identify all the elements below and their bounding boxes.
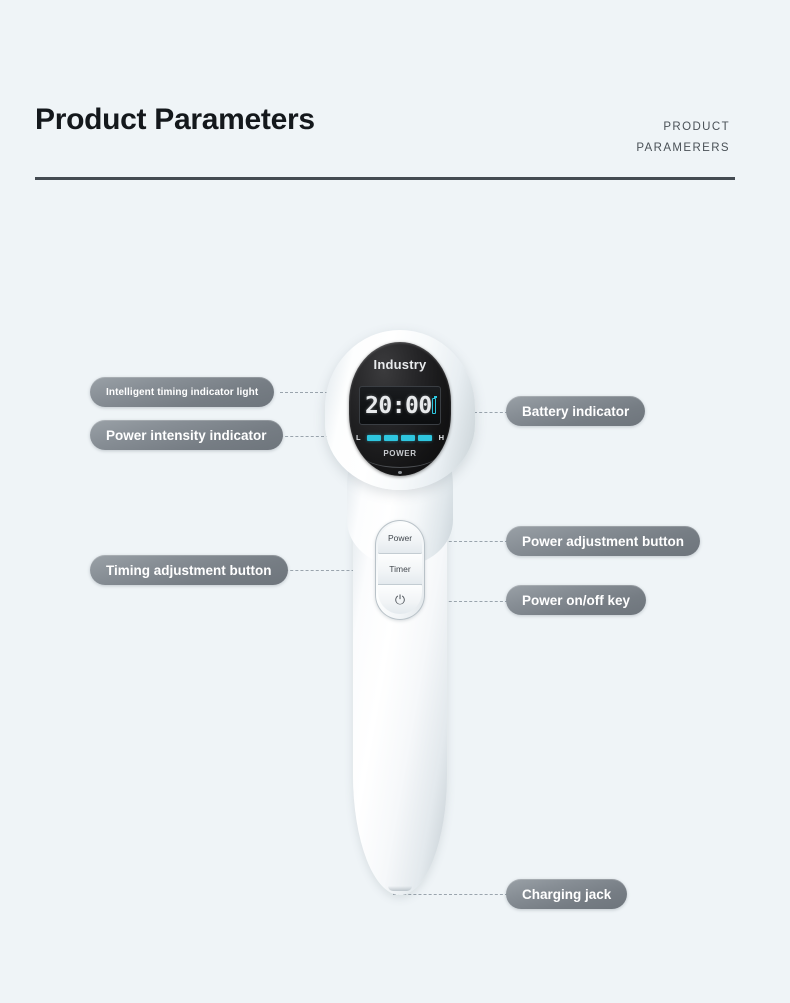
intensity-low-label: L — [356, 433, 361, 442]
callout-power-adjust: Power adjustment button — [506, 526, 700, 556]
device-head: Industry 20:00 L H POWER — [325, 330, 475, 490]
device-illustration: Industry 20:00 L H POWER — [325, 330, 475, 895]
charging-jack — [388, 886, 412, 891]
battery-icon — [432, 398, 436, 414]
lcd-display: 20:00 — [359, 386, 441, 425]
callout-charging-jack: Charging jack — [506, 879, 627, 909]
device-face-panel: Industry 20:00 L H POWER — [349, 342, 451, 476]
header-subtitle: PRODUCT PARAMERERS — [636, 117, 730, 159]
callout-battery-indicator: Battery indicator — [506, 396, 645, 426]
header-divider — [35, 177, 735, 180]
power-onoff-button[interactable]: ⏻ — [378, 585, 422, 614]
callout-timing-indicator: Intelligent timing indicator light — [90, 377, 274, 407]
page-header: Product Parameters PRODUCT PARAMERERS — [0, 0, 790, 190]
callout-timing-adjust: Timing adjustment button — [90, 555, 288, 585]
timer-adjustment-button[interactable]: Timer — [378, 554, 422, 585]
intensity-high-label: H — [439, 433, 444, 442]
header-subtitle-line2: PARAMERERS — [636, 138, 730, 159]
lcd-time-value: 20:00 — [365, 393, 432, 419]
power-label: POWER — [349, 449, 451, 458]
brand-label: Industry — [349, 357, 451, 372]
header-subtitle-line1: PRODUCT — [636, 117, 730, 138]
power-adjustment-button[interactable]: Power — [378, 523, 422, 554]
page-title: Product Parameters — [35, 103, 315, 137]
callout-power-intensity: Power intensity indicator — [90, 420, 283, 450]
indicator-dot — [398, 471, 402, 474]
callout-power-onoff: Power on/off key — [506, 585, 646, 615]
button-cluster: Power Timer ⏻ — [375, 520, 425, 620]
